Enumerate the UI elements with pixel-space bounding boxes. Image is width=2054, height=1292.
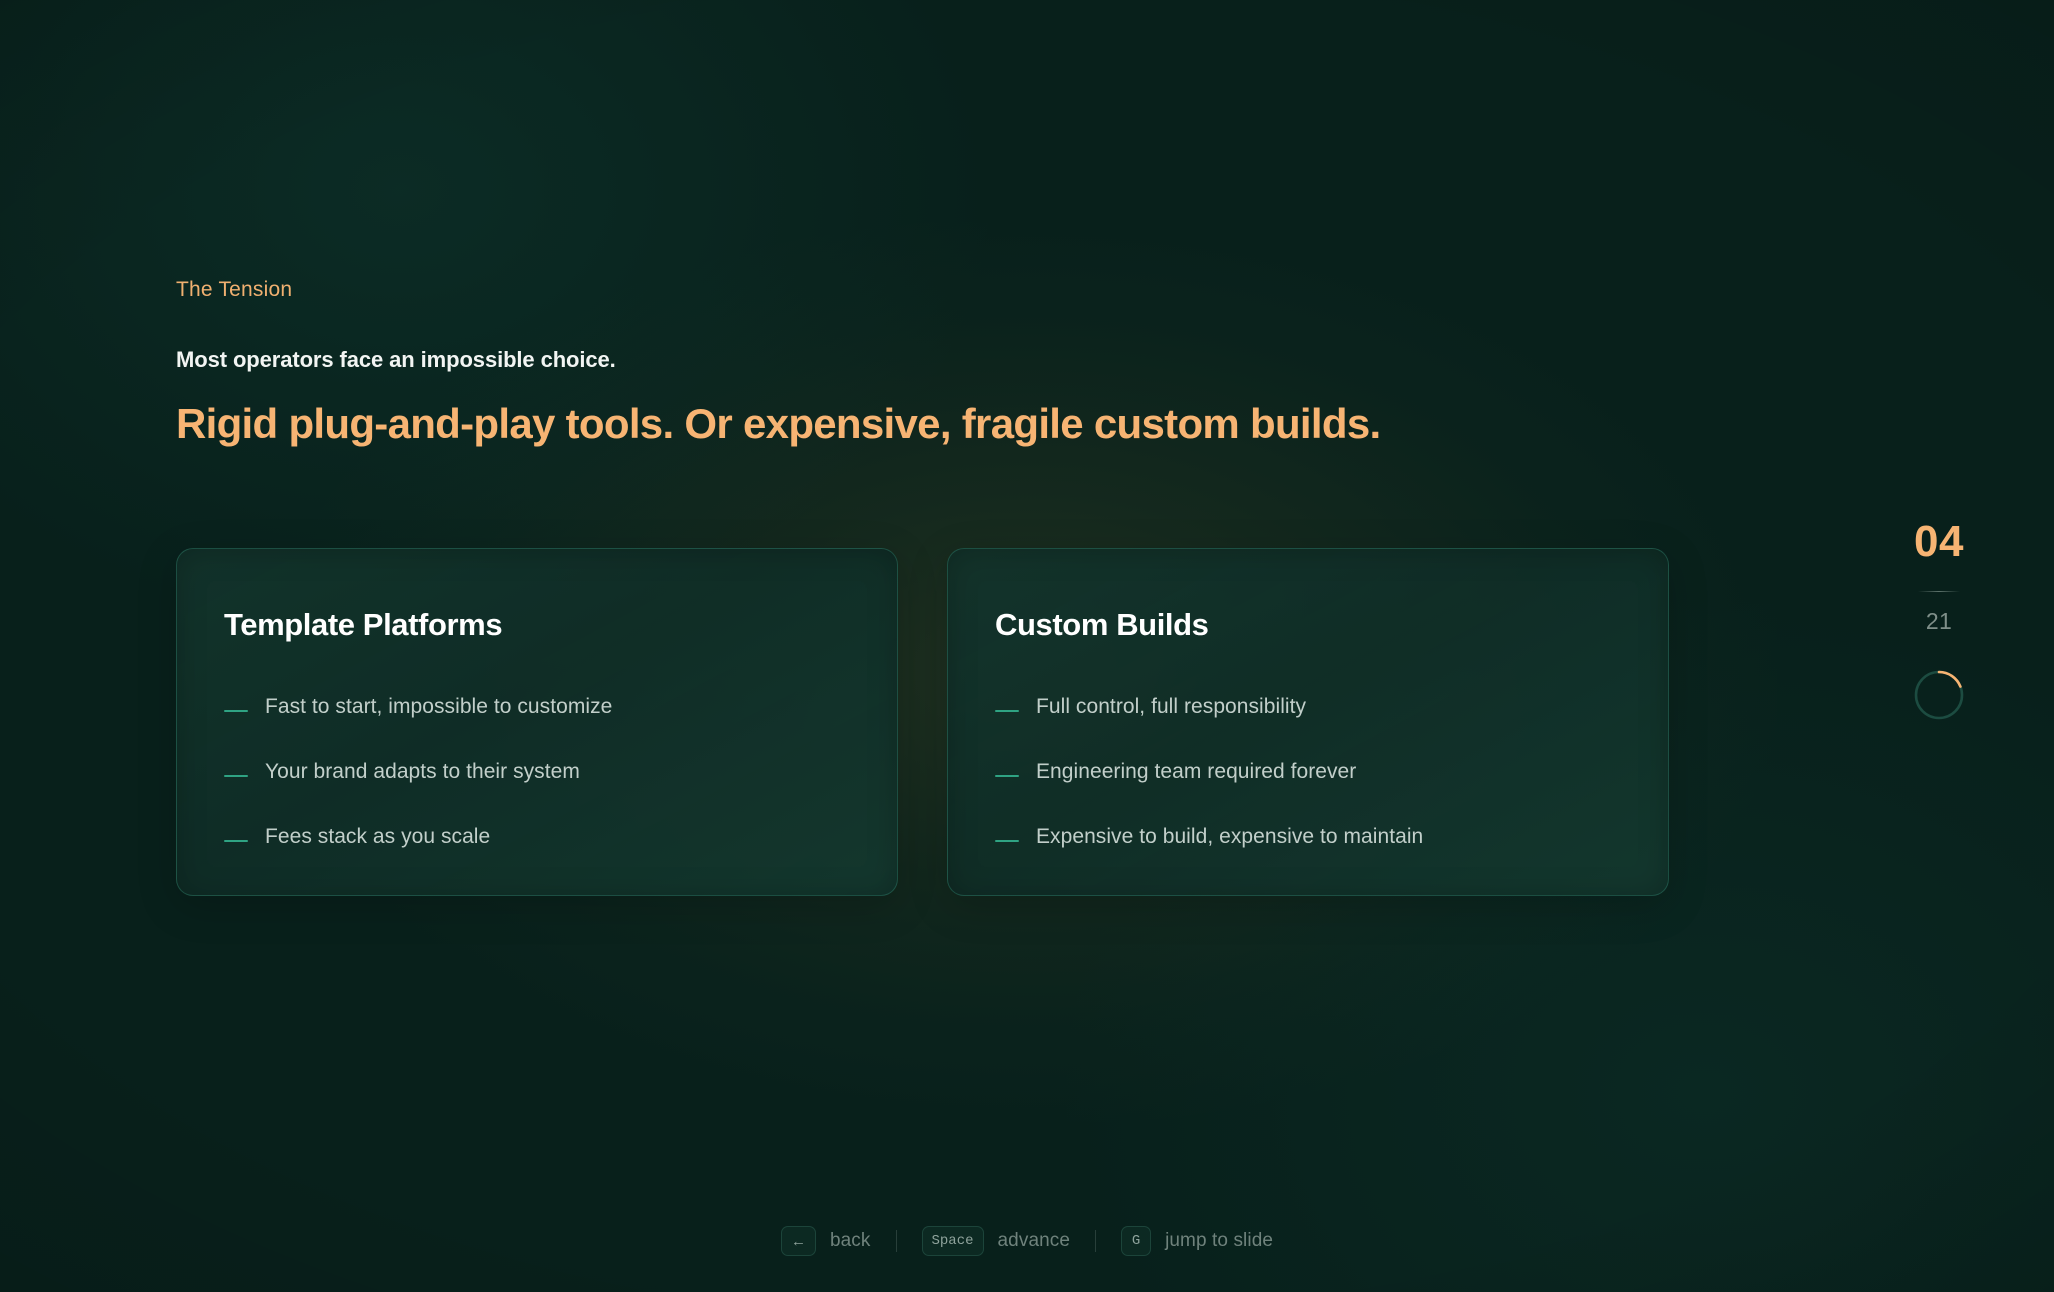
bullet-label: Expensive to build, expensive to maintai… [1036,825,1423,849]
list-item: Expensive to build, expensive to maintai… [995,804,1668,869]
card-title: Custom Builds [995,607,1668,643]
progress-ring-icon [1913,669,1965,721]
hint-back[interactable]: ← back [781,1226,871,1256]
section-eyebrow: The Tension [176,278,292,302]
slide-lede: Most operators face an impossible choice… [176,347,616,373]
dash-bullet-icon [995,710,1019,712]
counter-divider [1918,591,1960,592]
comparison-cards: Template Platforms Fast to start, imposs… [176,548,1669,896]
bullet-label: Engineering team required forever [1036,760,1356,784]
slide-content: The Tension Most operators face an impos… [176,0,1876,1292]
headline-part-a: Rigid plug-and-play tools. [176,400,673,447]
dash-bullet-icon [995,775,1019,777]
bullet-label: Fast to start, impossible to customize [265,695,612,719]
hint-jump-to-slide[interactable]: G jump to slide [1121,1226,1273,1256]
hint-separator [1095,1230,1096,1252]
slide-counter: 04 21 [1884,520,1994,721]
hint-separator [896,1230,897,1252]
card-custom-builds: Custom Builds Full control, full respons… [947,548,1669,896]
arrow-left-key-icon[interactable]: ← [781,1226,816,1256]
dash-bullet-icon [224,710,248,712]
dash-bullet-icon [224,775,248,777]
list-item: Engineering team required forever [995,739,1668,804]
total-slide-number: 21 [1926,610,1952,633]
card-title: Template Platforms [224,607,897,643]
bullet-label: Your brand adapts to their system [265,760,580,784]
list-item: Fees stack as you scale [224,804,897,869]
list-item: Fast to start, impossible to customize [224,674,897,739]
bullet-list: Fast to start, impossible to customize Y… [224,674,897,869]
hint-advance[interactable]: Space advance [922,1226,1071,1256]
dash-bullet-icon [224,840,248,842]
hint-label-back: back [830,1230,871,1252]
current-slide-number: 04 [1914,520,1964,564]
card-template-platforms: Template Platforms Fast to start, imposs… [176,548,898,896]
headline-part-b: Or expensive, fragile custom builds. [684,400,1380,447]
g-key-icon[interactable]: G [1121,1226,1151,1256]
bullet-label: Fees stack as you scale [265,825,490,849]
bullet-label: Full control, full responsibility [1036,695,1306,719]
space-key-icon[interactable]: Space [922,1226,984,1256]
hint-label-jump: jump to slide [1165,1230,1273,1252]
list-item: Full control, full responsibility [995,674,1668,739]
hint-label-advance: advance [998,1230,1071,1252]
page-title: Rigid plug-and-play tools. Or expensive,… [176,400,1380,448]
list-item: Your brand adapts to their system [224,739,897,804]
progress-ring [1913,669,1965,721]
keyboard-hints-bar: ← back Space advance G jump to slide [0,1226,2054,1256]
bullet-list: Full control, full responsibility Engine… [995,674,1668,869]
dash-bullet-icon [995,840,1019,842]
